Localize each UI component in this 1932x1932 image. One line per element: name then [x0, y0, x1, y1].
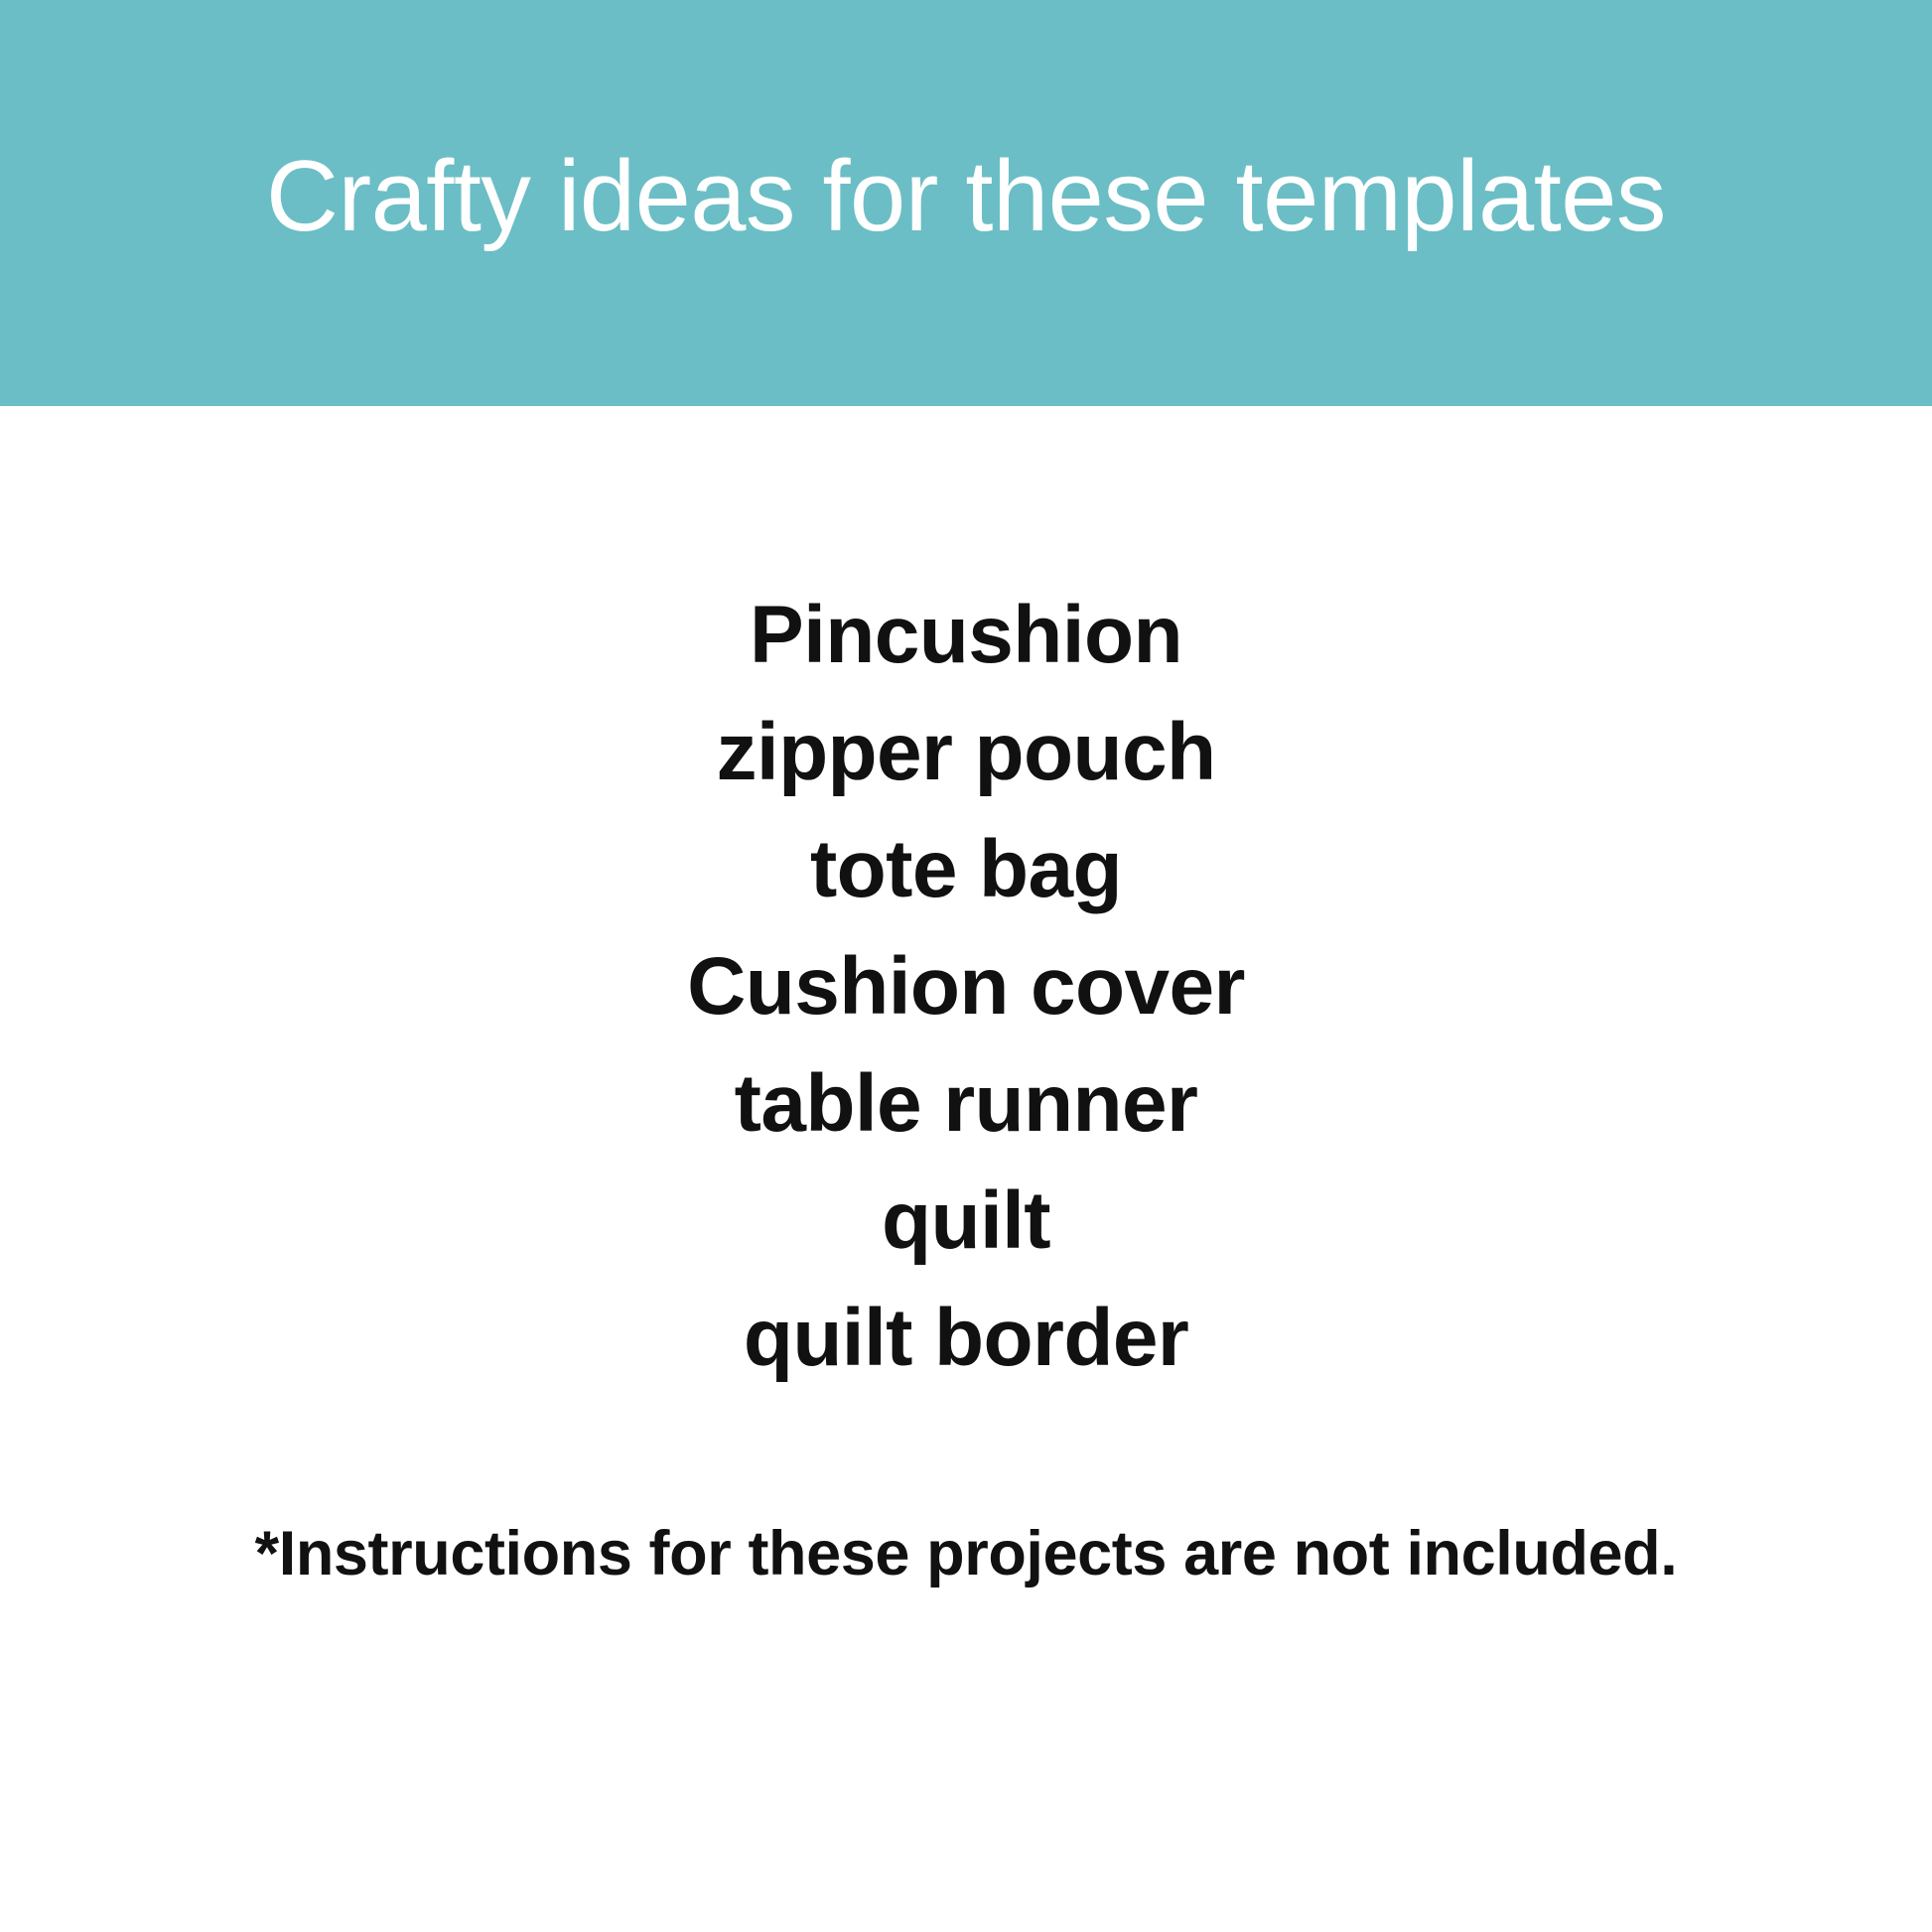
list-item: tote bag [0, 811, 1932, 928]
page-title: Crafty ideas for these templates [226, 142, 1706, 252]
page-root: Crafty ideas for these templates Pincush… [0, 0, 1932, 1932]
list-item: quilt border [0, 1280, 1932, 1397]
body-area: Pincushion zipper pouch tote bag Cushion… [0, 406, 1932, 1932]
list-item: Cushion cover [0, 928, 1932, 1045]
list-item: quilt [0, 1163, 1932, 1280]
header-banner: Crafty ideas for these templates [0, 0, 1932, 406]
crafty-ideas-list: Pincushion zipper pouch tote bag Cushion… [0, 577, 1932, 1397]
list-item: table runner [0, 1045, 1932, 1163]
footnote-disclaimer: *Instructions for these projects are not… [0, 1515, 1932, 1593]
list-item: zipper pouch [0, 694, 1932, 811]
list-item: Pincushion [0, 577, 1932, 694]
